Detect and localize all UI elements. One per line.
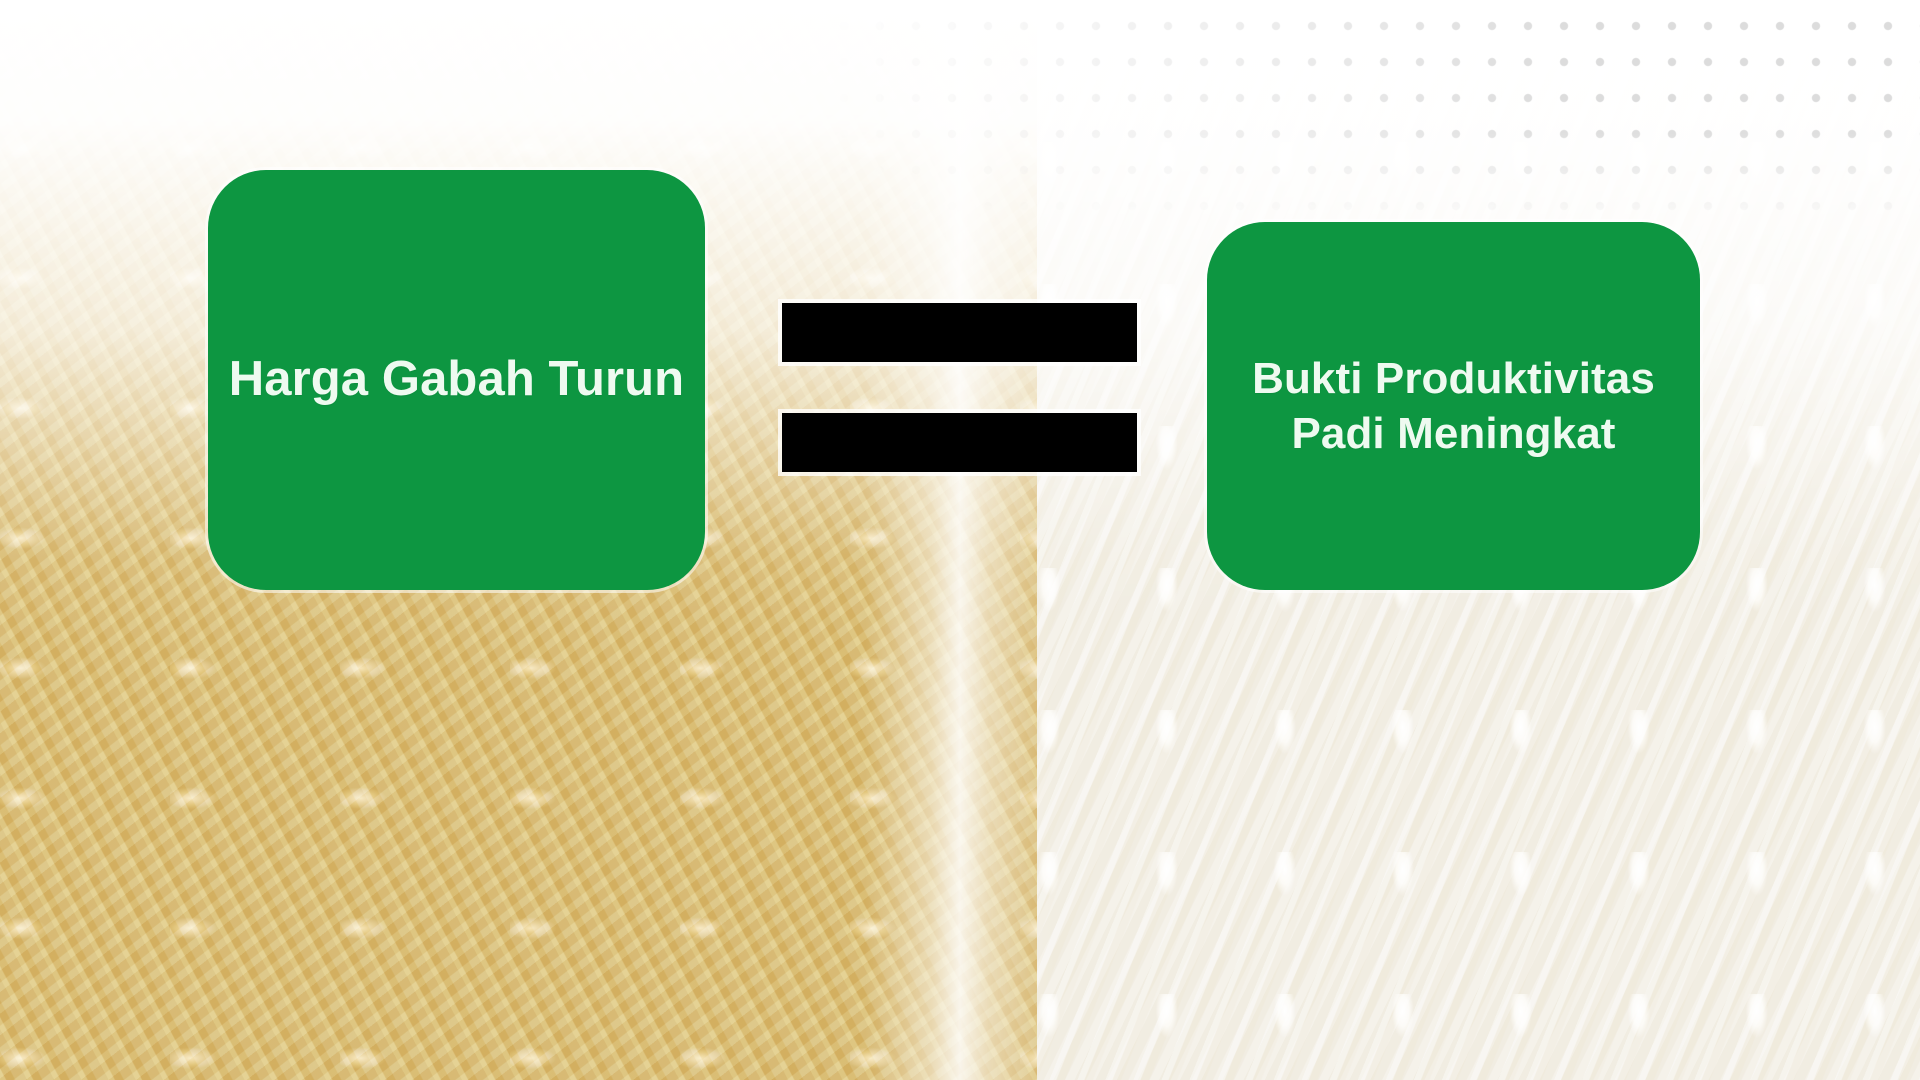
equals-bar-bottom [782, 413, 1137, 472]
equals-bar-top [782, 303, 1137, 362]
left-card-label: Harga Gabah Turun [211, 349, 702, 411]
infographic-canvas: Harga Gabah Turun = Bukti Produktivitas … [0, 0, 1920, 1080]
equation-layer: Harga Gabah Turun = Bukti Produktivitas … [0, 0, 1920, 1080]
equals-sign-icon: = [782, 303, 1137, 470]
right-statement-card: Bukti Produktivitas Padi Meningkat [1207, 222, 1700, 590]
left-statement-card: Harga Gabah Turun [208, 170, 705, 590]
right-card-label: Bukti Produktivitas Padi Meningkat [1207, 351, 1700, 462]
